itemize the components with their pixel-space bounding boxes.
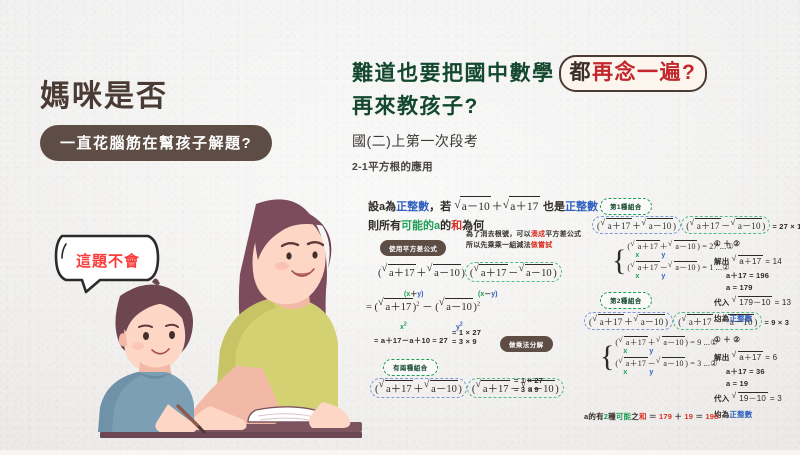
expr-expand-result: = 27: [432, 336, 448, 345]
combo-1-a-line: a = 179: [726, 283, 791, 292]
fa-t3: 之: [631, 412, 639, 421]
radical-a17-2: a＋17: [473, 264, 508, 280]
radical-a17-3: a＋17: [378, 298, 413, 314]
r1-a10-1: a－10: [641, 218, 673, 232]
r2s-a10-1: a－10: [656, 336, 685, 348]
note-1c: 平方差公式: [545, 231, 581, 238]
badge-use-difference-formula-wrap: 使用平方差公式: [380, 238, 446, 256]
badge-two-combos-wrap: 有兩種組合: [383, 357, 438, 376]
radical-a17-5: a＋17: [475, 380, 510, 396]
pill-tail-text: ?: [682, 61, 696, 84]
right-headline-block: 難道也要把國中數學都再念一遍? 再來教孩子? 國(二)上第一次段考 2-1平方根…: [352, 55, 792, 174]
combo-2-solve-value: = 6: [765, 353, 777, 362]
label-xy-minus: (x－y): [478, 291, 497, 298]
combo-2-product-value: = 9 × 3: [764, 318, 789, 327]
work-combo-1-product: (a＋17＋a－10)(a＋17－a－10)= 27 × 1: [592, 216, 800, 234]
combo-1-solve-radical: a＋17: [732, 255, 763, 267]
radical-a-plus-17: a＋17: [503, 196, 540, 217]
combo-1-sub-value: = 13: [775, 298, 792, 307]
combo-2-sub-radical: 19－10: [732, 392, 768, 404]
badge-combo-1-wrap: 第1種組合: [600, 196, 652, 215]
r1-a17-1: a＋17: [600, 218, 632, 232]
headline-line-1: 難道也要把國中數學都再念一遍?: [352, 55, 792, 92]
combo-2-product-line: (a＋17＋a－10)(a＋17－a－10)= 9 × 3: [584, 312, 789, 330]
combo-1-sub-radical: 179－10: [732, 296, 772, 308]
combo-2-sum-tag: ① ＋ ②: [714, 334, 782, 345]
op-plus-2: ＋: [413, 384, 424, 395]
combo-2-solve-radical: a＋17: [732, 351, 763, 363]
highlight-ring-green-3: (a＋17－a－10): [681, 216, 770, 234]
badge-do-factorization-wrap: 做乘法分解: [500, 334, 553, 352]
highlight-ring-blue-1: (a＋17＋a－10): [370, 378, 467, 398]
r2-op-2: －: [713, 317, 722, 327]
r1s-a17-1: a＋17: [630, 240, 659, 252]
radical-a10-4: a－10: [424, 380, 459, 396]
problem-text-c: ，若: [429, 201, 451, 213]
problem-line-1: 設a為正整數，若 a－10＋a＋17 也是正整數: [368, 196, 788, 217]
final-answer-line: a的有2種可能之和 ＝ 179 ＋ 19 ＝ 198: [584, 406, 719, 424]
combo-2-a-line: a = 19: [726, 379, 782, 388]
page-title: 媽咪是否: [40, 82, 340, 112]
note-2a: 所以先乘乘一組減法: [466, 242, 531, 249]
pill-red-text: 再念一遍: [592, 61, 682, 84]
label-x-minus-y: (x－y): [478, 283, 497, 301]
r2s-a17-2: a＋17: [618, 357, 647, 369]
work-expr-product: (a＋17＋a－10)(a＋17－a－10): [378, 262, 562, 282]
r2-op-1: ＋: [624, 317, 633, 327]
highlight-ring-blue-3: (a＋17＋a－10): [584, 312, 673, 330]
note-line-2: 所以先乘乘一組減法做嘗試: [466, 241, 581, 252]
work-factor-pair: = 1 × 27 = 3 × 9: [452, 328, 481, 346]
highlight-ring-blue-2: (a＋17＋a－10): [592, 216, 681, 234]
combo-2-conclusion: 均為正整數: [714, 409, 782, 420]
radical-a17-1: a＋17: [382, 264, 417, 280]
pill-dark-text: 都: [570, 61, 593, 84]
left-headline-block: 媽咪是否 一直花腦筋在幫孩子解題?: [40, 82, 340, 161]
work-combo-2-product: (a＋17＋a－10)(a＋17－a－10)= 9 × 3: [584, 312, 789, 330]
system-brace-1: {: [612, 250, 626, 271]
mother-child-illustration: [60, 170, 370, 450]
combo-2-solve-row: 解出 a＋17 = 6: [714, 351, 782, 363]
combo-2-sub-label: 代入: [714, 394, 729, 403]
fa-sum-word: 和: [639, 412, 647, 421]
combo-2-sub-row: 代入 19－10 = 3: [714, 392, 782, 404]
combo-2-xy-2: xy: [623, 369, 717, 376]
fa-t1: 的有: [588, 412, 603, 421]
expr-expand: = a＋17－a＋10: [374, 336, 430, 345]
radical-a10-2: a－10: [519, 264, 554, 280]
factor-line-2: = 3 × 9: [452, 337, 481, 346]
subtitle-pill: 一直花腦筋在幫孩子解題?: [40, 125, 272, 161]
work-two-combo-values: = 1 × 27 = 3 × 9: [514, 376, 543, 394]
r2s-a10-2: a－10: [656, 357, 685, 369]
section-label: 2-1平方根的應用: [352, 159, 792, 174]
r2-a17-2: a＋17: [681, 314, 713, 328]
combo-1-sub-row: 代入 179－10 = 13: [714, 296, 791, 308]
work-expr-squares: = (a＋17)2 － (a－10)2: [366, 298, 480, 314]
radical-a17-4: a＋17: [379, 380, 414, 396]
fa-total: 198: [705, 412, 718, 421]
work-combo-2-system: { (a＋17＋a－10) = 9 ...① xy (a＋17－a－10) = …: [600, 336, 718, 376]
badge-two-combinations: 有兩種組合: [383, 359, 438, 376]
problem-text-f: 則所有: [368, 220, 401, 232]
exp-2-a: 2: [416, 301, 419, 308]
note-line-1: 為了消去根號，可以湊成平方差公式: [466, 230, 581, 241]
problem-radical-group: a－10＋a＋17: [454, 201, 540, 213]
radical-a-minus-10: a－10: [454, 196, 491, 217]
combo-1-sub-label: 代入: [714, 298, 729, 307]
note-1a: 為了消去根號，可以: [466, 231, 531, 238]
label-xy-plus: (x＋y): [404, 291, 423, 298]
factor-line-1: = 1 × 27: [452, 328, 481, 337]
fa-eq: ＝: [649, 412, 657, 421]
problem-text-h: 的: [440, 220, 451, 232]
note-2b: 做嘗試: [531, 242, 553, 249]
r1-a10-2: a－10: [730, 218, 762, 232]
r1-op-2: －: [721, 221, 730, 231]
r1s-op-2: －: [660, 263, 668, 272]
headline-emphasis-pill: 都再念一遍?: [559, 55, 708, 92]
combo-2-a17-line: a＋17 = 36: [726, 366, 782, 377]
r1-op-1: ＋: [632, 221, 641, 231]
badge-combination-2: 第2種組合: [600, 292, 652, 309]
problem-text-g: 可能的a: [401, 220, 440, 232]
problem-text-e: 正整數: [565, 201, 598, 213]
combo-2-eq-1-value: = 9: [690, 338, 701, 347]
combo-1-solve-label: 解出: [714, 257, 729, 266]
fa-possible: 可能: [616, 412, 631, 421]
combo-2-solve-label: 解出: [714, 353, 729, 362]
fa-plus: ＋: [674, 412, 682, 421]
badge-do-factorization: 做乘法分解: [500, 336, 553, 352]
headline-line-1-text: 難道也要把國中數學: [352, 62, 555, 85]
combo-value-2: = 3 × 9: [514, 385, 543, 394]
r2-a17-1: a＋17: [592, 314, 624, 328]
problem-text-i: 和: [451, 220, 462, 232]
problem-text-d: 也是: [543, 201, 565, 213]
badge-combo-2-wrap: 第2種組合: [600, 290, 652, 309]
fa-t2: 種: [608, 412, 616, 421]
exp-2-b: 2: [477, 301, 480, 308]
badge-combination-1: 第1種組合: [600, 198, 652, 215]
combo-2-eq-2-value: = 3: [690, 359, 701, 368]
expr-squares-line: = (a＋17)2 － (a－10)2: [366, 298, 480, 314]
op-plus-1: ＋: [416, 268, 427, 279]
r2s-op-1: ＋: [648, 338, 656, 347]
speech-bubble: 這題不會: [52, 232, 164, 294]
highlight-ring-green-1: (a＋17－a－10): [465, 262, 562, 282]
combo-1-product-line: (a＋17＋a－10)(a＋17－a－10)= 27 × 1: [592, 216, 800, 234]
fa-eq2: ＝: [695, 412, 703, 421]
r1s-a10-2: a－10: [668, 261, 697, 273]
r1s-op-1: ＋: [660, 242, 668, 251]
r2s-a17-1: a＋17: [618, 336, 647, 348]
bubble-text: 這題不會: [52, 232, 164, 288]
combo-1-a17-line: a＋17 = 196: [726, 270, 791, 281]
fa-v2: 19: [684, 412, 693, 421]
r2-a10-1: a－10: [633, 314, 665, 328]
r2s-op-2: －: [648, 359, 656, 368]
combo-1-product-value: = 27 × 1: [772, 222, 800, 231]
combo-1-solve-row: 解出 a＋17 = 14: [714, 255, 791, 267]
paren-left-group: (a＋17＋a－10): [378, 268, 465, 279]
work-note-left: 為了消去根號，可以湊成平方差公式 所以先乘乘一組減法做嘗試: [466, 230, 581, 252]
radical-a10-3: a－10: [439, 298, 474, 314]
combo-value-1: = 1 × 27: [514, 376, 543, 385]
work-expand-line: = a＋17－a＋10= 27: [374, 330, 448, 348]
op-minus-1: －: [508, 268, 519, 279]
note-1b: 湊成: [531, 231, 545, 238]
problem-text-a: 設a為: [368, 201, 396, 213]
combo-2-concl-value: 正整數: [729, 410, 752, 419]
fa-v1: 179: [659, 412, 672, 421]
combo-2-system-wrap: { (a＋17＋a－10) = 9 ...① xy (a＋17－a－10) = …: [600, 336, 718, 376]
badge-use-difference-formula: 使用平方差公式: [380, 240, 446, 256]
problem-text-b: 正整數: [396, 201, 429, 213]
combo-2-sub-value: = 3: [770, 394, 782, 403]
exam-label: 國(二)上第一次段考: [352, 131, 792, 151]
highlight-ring-green-4: (a＋17－a－10): [673, 312, 762, 330]
combo-1-sum-tag: ① ＋ ②: [714, 238, 791, 249]
combo-2-eq-2: (a＋17－a－10) = 3 ...②: [615, 357, 717, 369]
r1s-a17-2: a＋17: [630, 261, 659, 273]
problem-plus: ＋: [491, 201, 503, 213]
work-combo-2-solution: ① ＋ ② 解出 a＋17 = 6 a＋17 = 36 a = 19 代入 19…: [714, 334, 782, 420]
r2-a10-2: a－10: [722, 314, 754, 328]
combo-2-eq-1: (a＋17＋a－10) = 9 ...①: [615, 336, 717, 348]
r1-a17-2: a＋17: [689, 218, 721, 232]
combo-1-eq-2-value: = 1: [702, 263, 713, 272]
expr-product-line: (a＋17＋a－10)(a＋17－a－10): [378, 262, 562, 282]
headline-line-2: 再來教孩子?: [352, 92, 792, 122]
combo-2-xy-1: xy: [623, 348, 717, 355]
radical-a10-1: a－10: [427, 264, 462, 280]
system-brace-2: {: [600, 346, 614, 367]
r1s-a10-1: a－10: [668, 240, 697, 252]
combo-1-solve-value: = 14: [765, 257, 782, 266]
final-answer-text: a的有2種可能之和 ＝ 179 ＋ 19 ＝ 198: [584, 412, 719, 421]
